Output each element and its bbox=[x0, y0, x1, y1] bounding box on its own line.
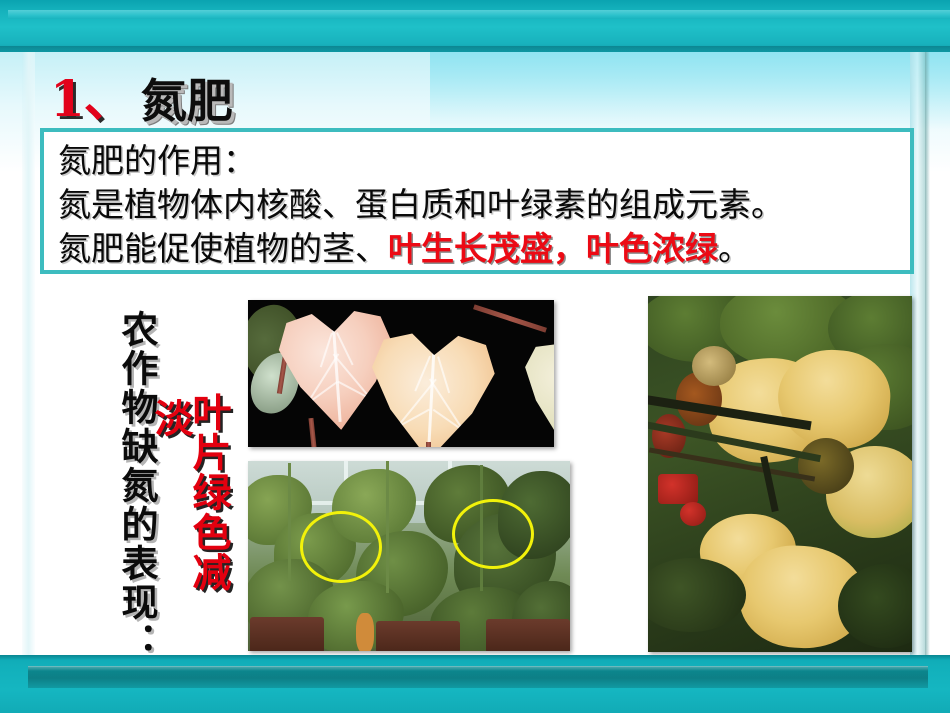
statement-line-3: 氮肥能促使植物的茎、叶生长茂盛，叶色浓绿。 bbox=[58, 227, 910, 271]
top-decoration-band bbox=[0, 0, 950, 52]
title-label: 氮肥 bbox=[141, 78, 233, 124]
statement-line-3-tail: 。 bbox=[718, 229, 751, 268]
vertical-caption-answer-tail: 淡 bbox=[150, 398, 192, 437]
vertical-caption-block: 农作物缺氮的表现： 叶片绿色减 淡 bbox=[108, 300, 248, 650]
statement-line-3-text: 氮肥能促使植物的茎、 bbox=[58, 229, 388, 268]
statement-line-2-text: 氮是植物体内核酸、蛋白质和叶绿素的组成元素。 bbox=[58, 185, 784, 224]
vertical-caption-answer: 叶片绿色减 bbox=[188, 392, 230, 592]
title-number: 1、 bbox=[50, 74, 133, 124]
statement-line-1: 氮肥的作用： bbox=[58, 139, 910, 183]
statement-line-1-text: 氮肥的作用： bbox=[58, 141, 256, 180]
statement-box: 氮肥的作用： 氮是植物体内核酸、蛋白质和叶绿素的组成元素。 氮肥能促使植物的茎、… bbox=[40, 128, 914, 274]
statement-line-2: 氮是植物体内核酸、蛋白质和叶绿素的组成元素。 bbox=[58, 183, 910, 227]
photo-pale-heart-leaves bbox=[248, 300, 554, 447]
bottom-band-inset-highlight bbox=[28, 666, 928, 671]
slide: 1、 氮肥 氮肥的作用： 氮是植物体内核酸、蛋白质和叶绿素的组成元素。 氮肥能促… bbox=[0, 0, 950, 713]
statement-line-3-highlight: 叶生长茂盛，叶色浓绿 bbox=[388, 229, 718, 268]
annotation-circle-left bbox=[300, 511, 382, 583]
background-glow-secondary bbox=[430, 52, 950, 130]
vertical-caption-question: 农作物缺氮的表现： bbox=[116, 310, 157, 661]
bottom-band-shadow bbox=[0, 655, 950, 660]
photo-yellowing-cucurbit-leaves bbox=[648, 296, 912, 652]
page-title: 1、 氮肥 bbox=[50, 62, 233, 124]
annotation-circle-right bbox=[452, 499, 534, 569]
right-edge-shadow bbox=[925, 52, 930, 664]
top-band-inset-bar bbox=[8, 10, 950, 19]
photo-greenhouse-tomato-plants bbox=[248, 461, 570, 651]
left-edge-strip bbox=[22, 52, 35, 662]
